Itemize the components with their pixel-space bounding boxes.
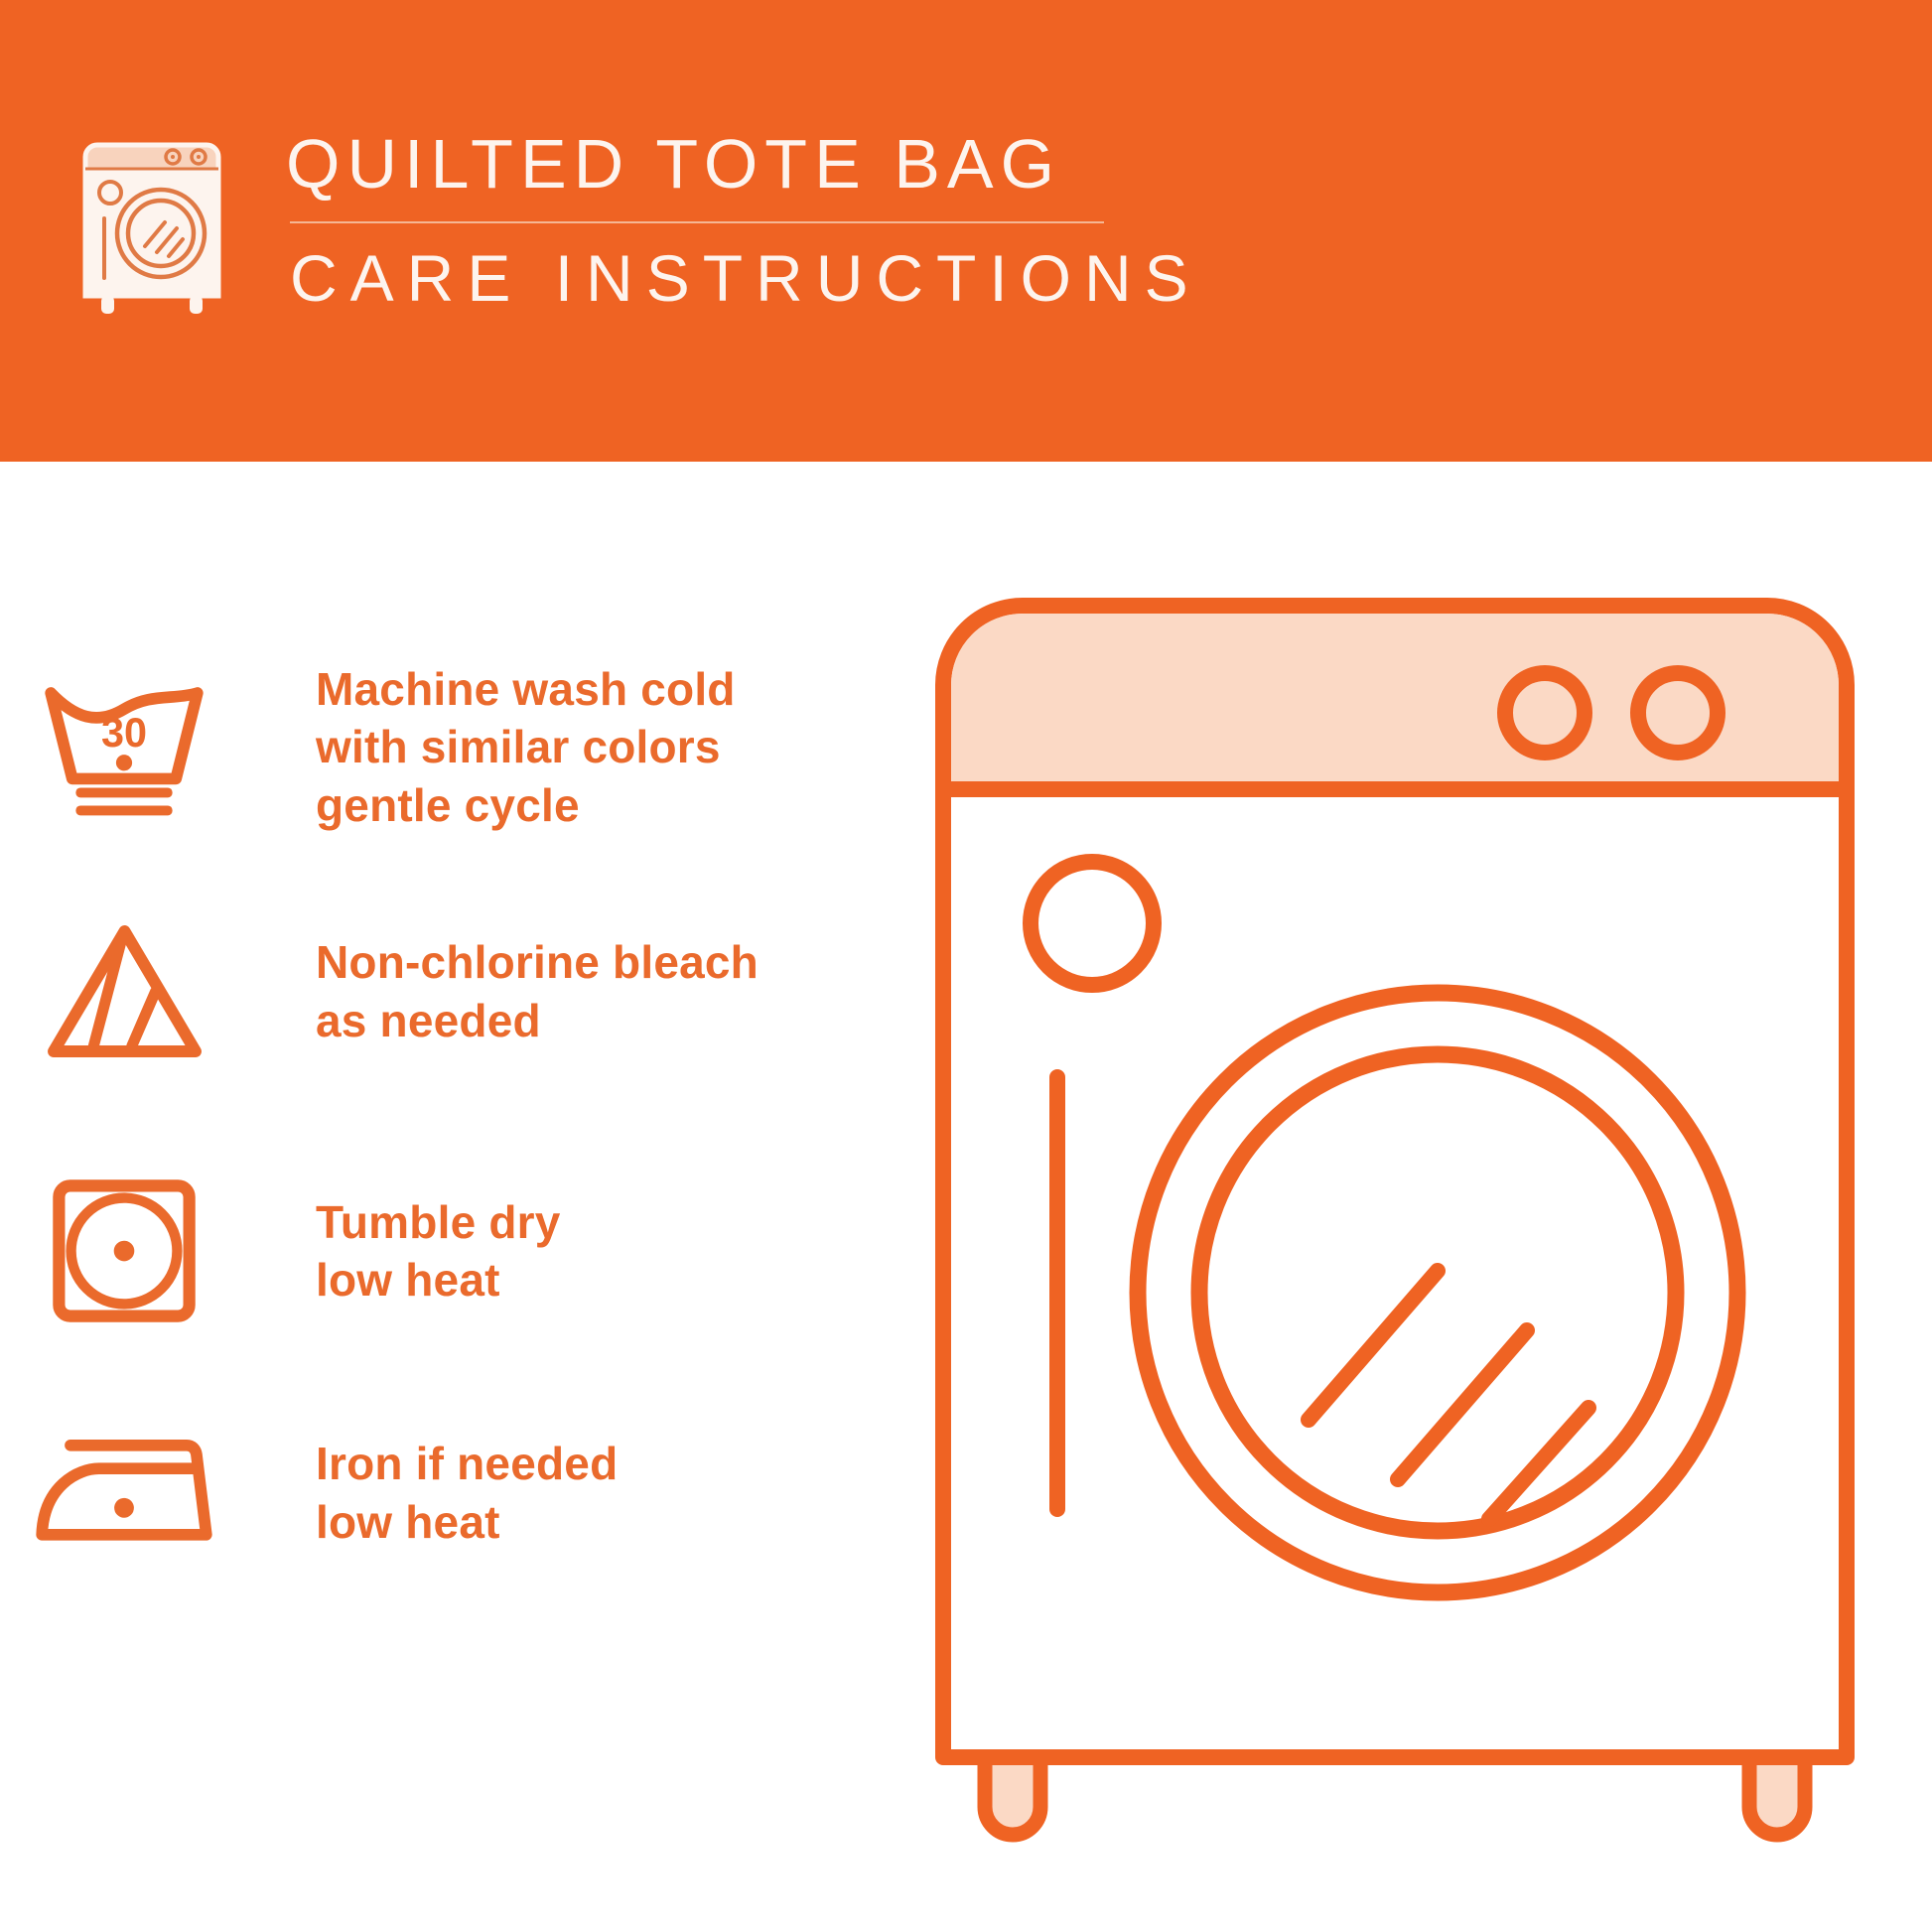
care-item-label: Tumble dry low heat bbox=[248, 1193, 894, 1310]
care-line: low heat bbox=[316, 1493, 894, 1551]
washing-machine-illustration bbox=[933, 596, 1857, 1847]
care-line: gentle cycle bbox=[316, 776, 894, 834]
control-panel bbox=[951, 614, 1839, 789]
care-line: Iron if needed bbox=[316, 1435, 894, 1492]
care-line: with similar colors bbox=[316, 718, 894, 775]
care-instructions-page: QUILTED TOTE BAG CARE INSTRUCTIONS 30 Ma… bbox=[0, 0, 1932, 1932]
wash-tub-30-gentle-icon: 30 bbox=[0, 673, 248, 821]
tumble-dry-low-heat-icon bbox=[0, 1176, 248, 1325]
wash-temperature-label: 30 bbox=[101, 710, 147, 756]
header-content: QUILTED TOTE BAG CARE INSTRUCTIONS bbox=[77, 129, 1201, 321]
header-divider bbox=[290, 221, 1104, 223]
non-chlorine-bleach-triangle-icon bbox=[0, 918, 248, 1064]
iron-low-heat-icon bbox=[0, 1435, 248, 1551]
washing-machine-icon bbox=[77, 137, 226, 321]
care-item-machine-wash: 30 Machine wash cold with similar colors… bbox=[0, 660, 894, 834]
care-item-label: Machine wash cold with similar colors ge… bbox=[248, 660, 894, 834]
header-text-block: QUILTED TOTE BAG CARE INSTRUCTIONS bbox=[286, 129, 1201, 311]
care-line: Tumble dry bbox=[316, 1193, 894, 1251]
care-item-label: Non-chlorine bleach as needed bbox=[248, 933, 894, 1049]
page-subtitle: CARE INSTRUCTIONS bbox=[290, 245, 1201, 311]
care-line: Non-chlorine bleach bbox=[316, 933, 894, 991]
care-item-label: Iron if needed low heat bbox=[248, 1435, 894, 1551]
header-banner: QUILTED TOTE BAG CARE INSTRUCTIONS bbox=[0, 0, 1932, 462]
care-item-tumble-dry: Tumble dry low heat bbox=[0, 1176, 894, 1325]
care-line: low heat bbox=[316, 1251, 894, 1309]
care-item-iron: Iron if needed low heat bbox=[0, 1435, 894, 1551]
care-line: as needed bbox=[316, 992, 894, 1049]
care-line: Machine wash cold bbox=[316, 660, 894, 718]
page-title: QUILTED TOTE BAG bbox=[286, 129, 1201, 199]
care-item-bleach: Non-chlorine bleach as needed bbox=[0, 918, 894, 1064]
